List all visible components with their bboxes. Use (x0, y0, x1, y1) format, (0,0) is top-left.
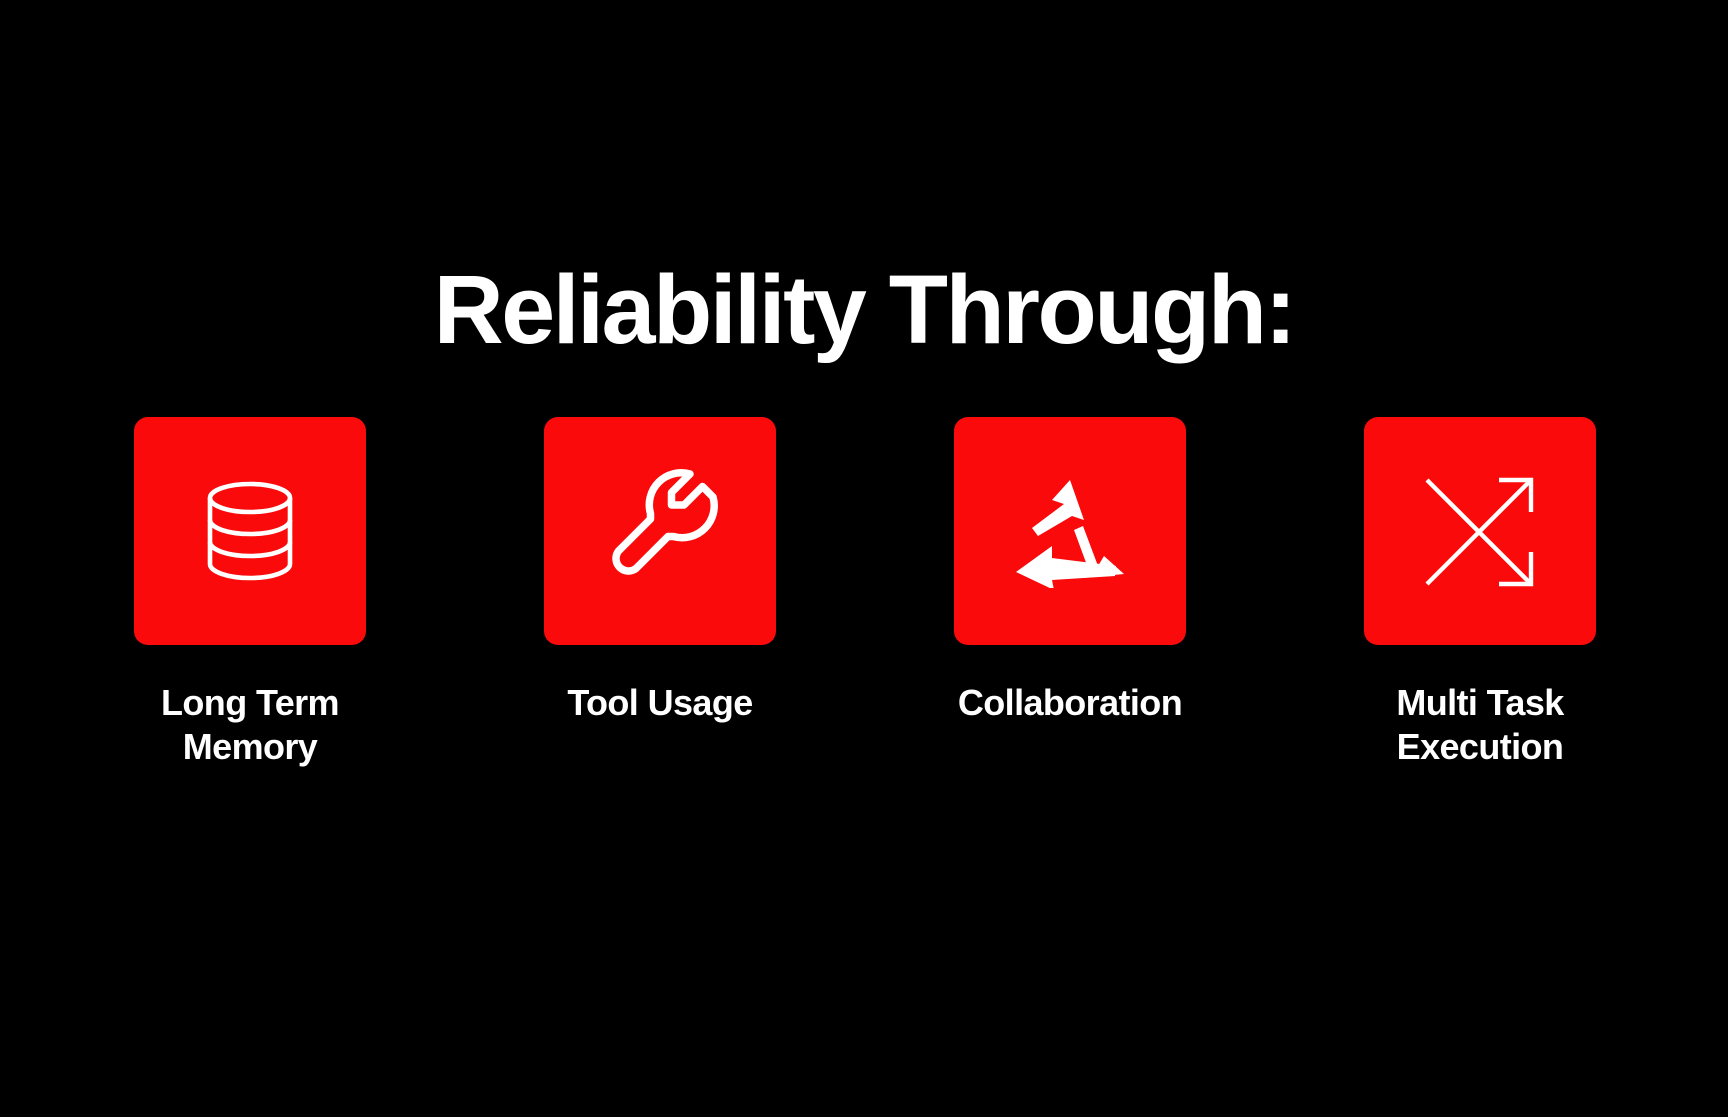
wrench-icon (598, 469, 722, 593)
feature-card-multi-task-execution[interactable]: Multi Task Execution (1364, 417, 1596, 769)
icon-tile-multi-task-execution[interactable] (1364, 417, 1596, 645)
feature-card-label: Long Term Memory (120, 681, 380, 769)
feature-card-tool-usage[interactable]: Tool Usage (544, 417, 776, 725)
page-title: Reliability Through: (0, 261, 1728, 358)
database-icon (192, 473, 308, 589)
recycle-triangle-arrows-icon (1008, 474, 1132, 588)
feature-card-label: Multi Task Execution (1350, 681, 1610, 769)
feature-card-collaboration[interactable]: Collaboration (954, 417, 1186, 725)
feature-card-label: Tool Usage (530, 681, 790, 725)
slide-canvas: Reliability Through: Long Term Memory (0, 0, 1728, 1117)
feature-card-label: Collaboration (940, 681, 1200, 725)
icon-tile-collaboration[interactable] (954, 417, 1186, 645)
feature-card-long-term-memory[interactable]: Long Term Memory (134, 417, 366, 769)
icon-tile-tool-usage[interactable] (544, 417, 776, 645)
feature-card-row: Long Term Memory Tool Usage (134, 417, 1596, 769)
icon-tile-long-term-memory[interactable] (134, 417, 366, 645)
shuffle-arrows-icon (1419, 470, 1541, 592)
